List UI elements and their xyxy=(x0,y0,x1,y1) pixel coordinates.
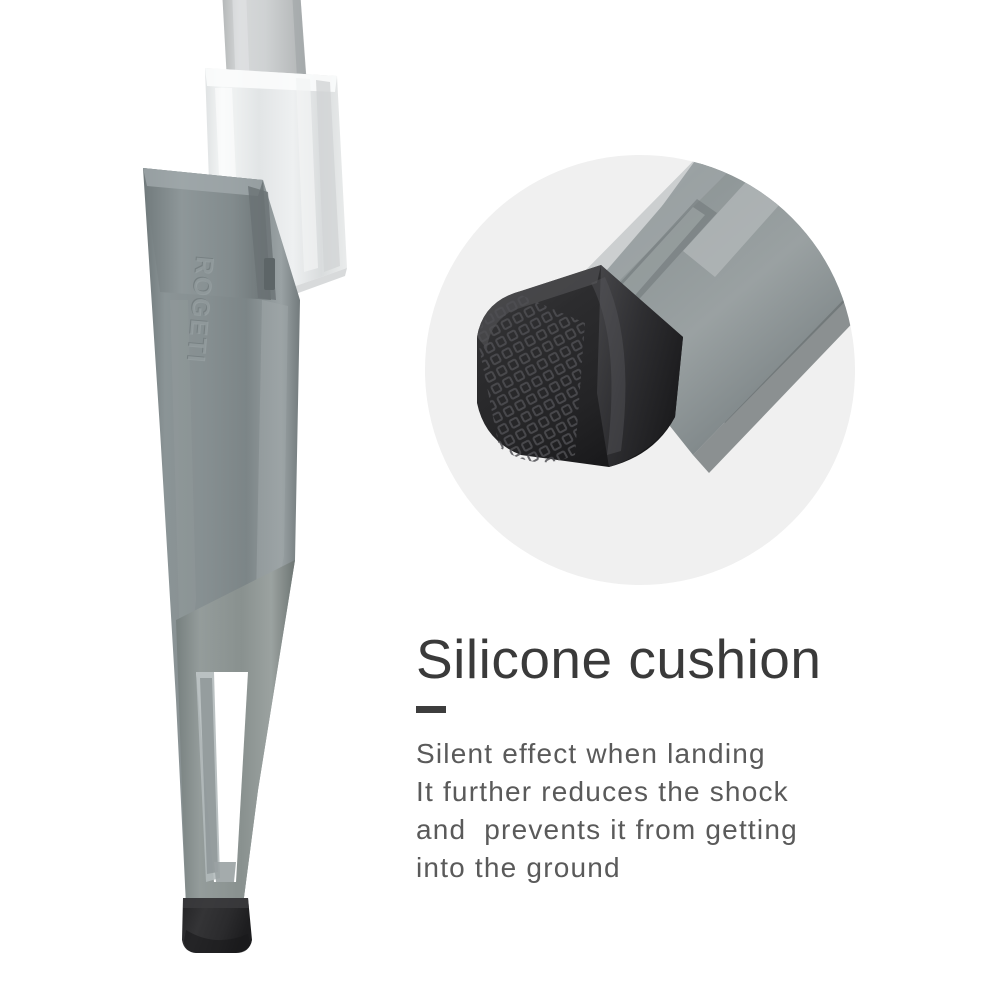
body-line-2: It further reduces the shock xyxy=(416,773,976,811)
inset-svg xyxy=(425,155,855,585)
body-line-1: Silent effect when landing xyxy=(416,735,976,773)
product-photo: ROGETI ROGETI xyxy=(0,0,430,1000)
page-title: Silicone cushion xyxy=(416,628,976,690)
clamp-notch xyxy=(264,258,275,290)
body-line-4: into the ground xyxy=(416,849,976,887)
product-marketing-image: ROGETI ROGETI xyxy=(0,0,1000,1000)
zoom-callout-circle xyxy=(425,155,855,585)
tripod-leg: ROGETI ROGETI xyxy=(143,168,300,905)
text-block: Silicone cushion Silent effect when land… xyxy=(416,628,976,887)
product-photo-svg: ROGETI ROGETI xyxy=(0,0,430,1000)
silicone-foot-cap xyxy=(182,898,252,953)
body-line-3: and prevents it from getting xyxy=(416,811,976,849)
accent-dash xyxy=(416,706,446,713)
